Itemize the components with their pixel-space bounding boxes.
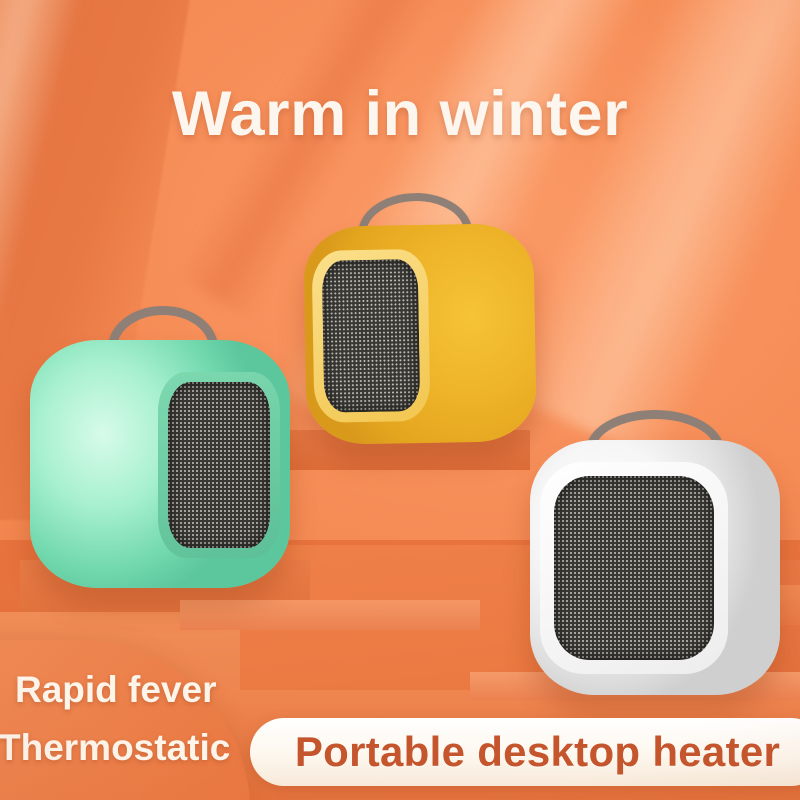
cta-label: Portable desktop heater: [295, 728, 780, 776]
heater-grille: [554, 476, 714, 660]
heater-grille: [168, 382, 270, 548]
feature-label-rapid-fever: Rapid fever: [15, 669, 217, 711]
product-poster: Warm in winter Rapid fever Thermostatic …: [0, 0, 800, 800]
cta-banner[interactable]: Portable desktop heater: [250, 718, 800, 786]
heater-grille: [322, 259, 421, 413]
product-white-heater[interactable]: [530, 440, 780, 695]
feature-label-thermostatic: Thermostatic: [0, 727, 230, 769]
stage-shelf-middle: [180, 600, 480, 630]
product-yellow-heater[interactable]: [303, 223, 537, 445]
page-title: Warm in winter: [0, 78, 800, 150]
product-green-heater[interactable]: [30, 340, 290, 588]
